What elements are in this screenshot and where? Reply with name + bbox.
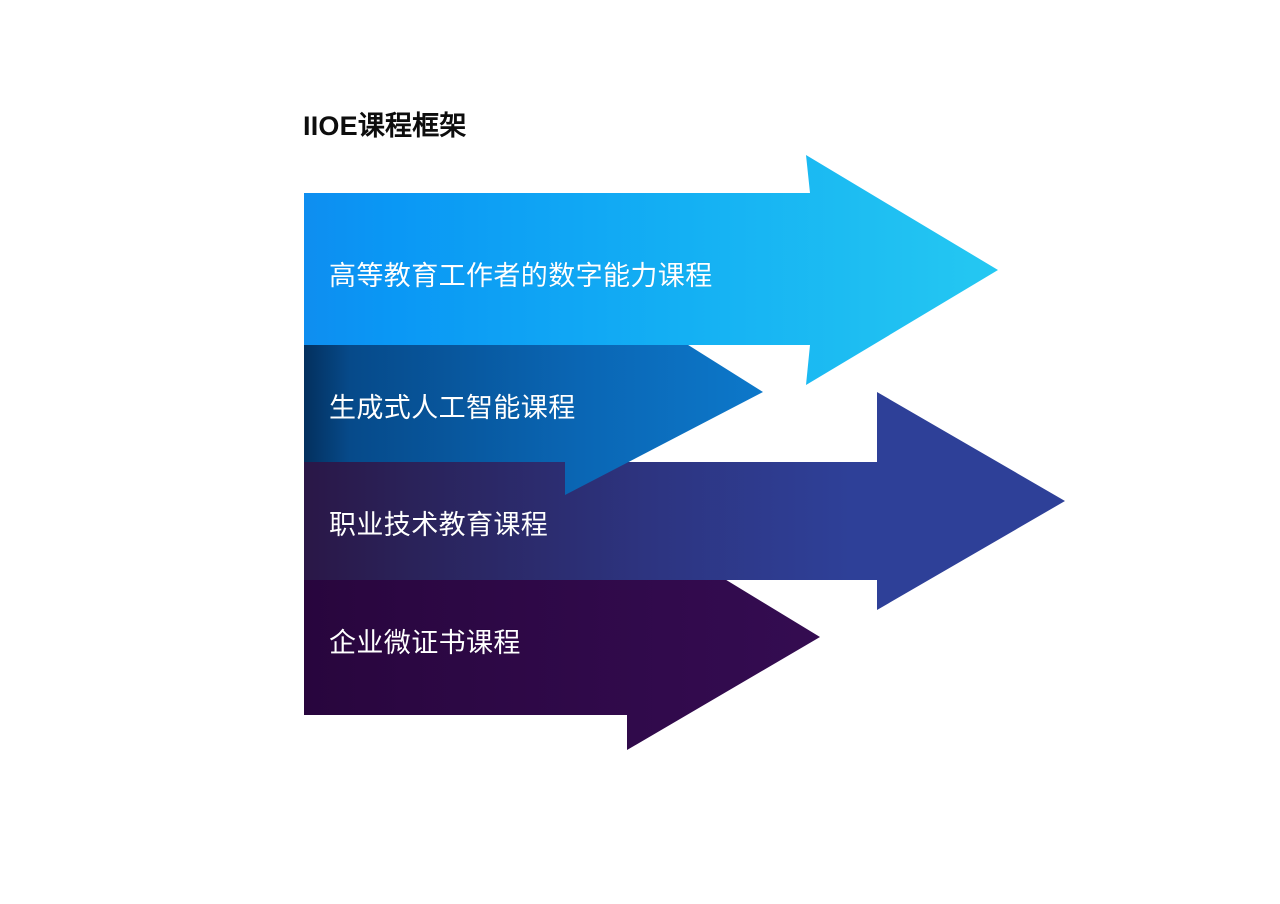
arrow-shape-4[interactable]	[304, 578, 820, 750]
arrow-label-1: 高等教育工作者的数字能力课程	[329, 254, 713, 293]
arrow-label-4: 企业微证书课程	[329, 621, 521, 660]
slide-canvas: IIOE课程框架	[0, 0, 1280, 904]
arrow-label-3: 职业技术教育课程	[329, 503, 548, 542]
process-arrow-diagram	[0, 0, 1280, 904]
arrow-label-2: 生成式人工智能课程	[329, 386, 576, 425]
